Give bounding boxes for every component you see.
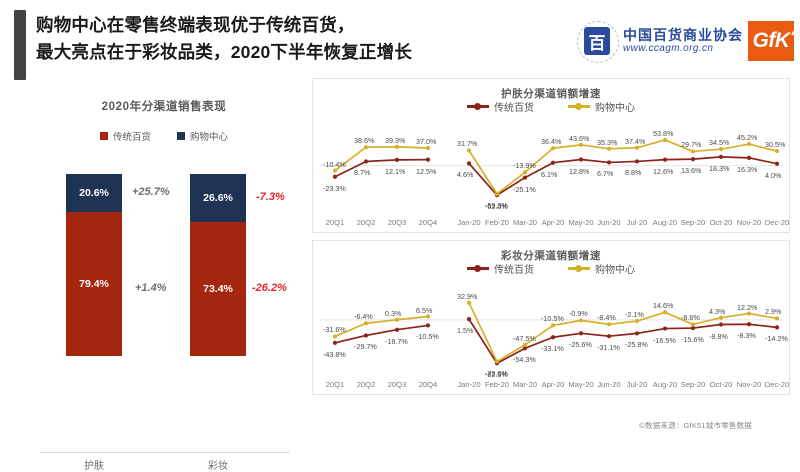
data-label: 6.7% — [597, 169, 613, 178]
annotation-makeup-department: -26.2% — [252, 282, 287, 294]
data-label: 2.9% — [765, 307, 781, 316]
data-label: 18.3% — [709, 164, 729, 173]
data-label: 12.1% — [385, 167, 405, 176]
x-axis-label: 20Q2 — [349, 218, 383, 227]
data-label: -8.3% — [737, 331, 756, 340]
title-line-1: 购物中心在零售终端表现优于传统百货， — [36, 12, 556, 39]
data-label: -25.8% — [625, 340, 648, 349]
data-label: 1.5% — [457, 326, 473, 335]
data-label: 34.5% — [709, 138, 729, 147]
x-axis-label: Dec-20 — [760, 380, 794, 389]
legend-item-mall: 购物中心 — [177, 129, 228, 143]
x-axis-label: 20Q1 — [318, 380, 352, 389]
x-axis-label: 20Q4 — [411, 380, 445, 389]
data-label: -31.1% — [597, 343, 620, 352]
data-label: 39.3% — [385, 136, 405, 145]
data-label: 12.5% — [416, 167, 436, 176]
data-label: -25.6% — [569, 340, 592, 349]
data-label: 36.4% — [541, 137, 561, 146]
data-label: 4.3% — [709, 307, 725, 316]
x-axis-label: 20Q2 — [349, 380, 383, 389]
makeup-line-chart: 彩妆分渠道销额增速 传统百货 购物中心 -43.8%-29.7%-18.7%-1… — [313, 241, 789, 394]
data-label: -47.5% — [513, 334, 536, 343]
stacked-bars-area: 20.6% 79.4% 26.6% 73.4% +25.7% +1.4% -7.… — [26, 174, 302, 364]
legend-swatch-department — [100, 132, 108, 140]
panel-channel-share: 2020年分渠道销售表现 传统百货 购物中心 20.6% 79.4% 26.6%… — [26, 78, 302, 396]
data-label: -59.3% — [485, 201, 508, 210]
brand-logos: 百 中国百货商业协会 www.ccagm.org.cn GfK — [576, 18, 794, 64]
x-axis-label: 20Q4 — [411, 218, 445, 227]
data-label: 0.3% — [385, 309, 401, 318]
data-label: -16.5% — [653, 336, 676, 345]
bar-segment-department-makeup: 73.4% — [190, 222, 246, 356]
data-label: -29.7% — [354, 342, 377, 351]
annotation-skincare-department: +1.4% — [135, 282, 167, 294]
slide-header: 购物中心在零售终端表现优于传统百货， 最大亮点在于彩妆品类，2020下半年恢复正… — [0, 0, 800, 72]
data-label: 35.3% — [597, 138, 617, 147]
bar-segment-mall-skincare: 20.6% — [66, 174, 122, 212]
data-label: -54.3% — [513, 355, 536, 364]
data-label: 13.6% — [681, 166, 701, 175]
data-label: -18.7% — [385, 337, 408, 346]
association-url: www.ccagm.org.cn — [623, 43, 743, 54]
x-axis-label: Dec-20 — [760, 218, 794, 227]
data-label: 4.6% — [457, 170, 473, 179]
data-label: -2.1% — [625, 310, 644, 319]
bar-group-makeup: 26.6% 73.4% — [190, 174, 246, 356]
data-label: 31.7% — [457, 139, 477, 148]
data-label: -79.6% — [485, 369, 508, 378]
left-chart-axis — [40, 452, 290, 453]
bar-segment-department-skincare: 79.4% — [66, 212, 122, 357]
legend-item-department: 传统百货 — [100, 129, 151, 143]
data-label: 38.6% — [354, 136, 374, 145]
x-axis-label: 20Q3 — [380, 380, 414, 389]
association-name: 中国百货商业协会 — [623, 28, 743, 44]
data-label: -43.8% — [323, 350, 346, 359]
data-label: 8.7% — [354, 168, 370, 177]
category-label-makeup: 彩妆 — [190, 457, 246, 472]
data-label: 45.2% — [737, 133, 757, 142]
data-label: -6.4% — [354, 312, 373, 321]
ccagm-logo-text: 中国百货商业协会 www.ccagm.org.cn — [623, 28, 743, 55]
data-label: 37.4% — [625, 137, 645, 146]
data-label: -15.6% — [681, 335, 704, 344]
data-label: -10.5% — [541, 314, 564, 323]
source-note: ©数据来源：GfK51城市零售数据 — [639, 420, 752, 431]
slide-root: 购物中心在零售终端表现优于传统百货， 最大亮点在于彩妆品类，2020下半年恢复正… — [0, 0, 800, 450]
data-label: 43.6% — [569, 134, 589, 143]
data-label: 32.9% — [457, 292, 477, 301]
data-label: -0.9% — [569, 309, 588, 318]
data-label: 14.6% — [653, 301, 673, 310]
data-label: -10.4% — [323, 160, 346, 169]
data-label: -13.9% — [513, 161, 536, 170]
data-label: -14.2% — [765, 334, 788, 343]
data-label: 16.3% — [737, 165, 757, 174]
data-label: -25.1% — [513, 185, 536, 194]
legend-swatch-mall — [177, 132, 185, 140]
data-label: 53.8% — [653, 129, 673, 138]
data-label: 6.5% — [416, 306, 432, 315]
data-label: 29.7% — [681, 140, 701, 149]
panel-skincare-growth: 护肤分渠道销额增速 传统百货 购物中心 -23.3%8.7%12.1%12.5%… — [312, 78, 790, 233]
data-label: -31.6% — [323, 325, 346, 334]
x-axis-label: 20Q1 — [318, 218, 352, 227]
data-label: -8.8% — [709, 332, 728, 341]
legend-label-department: 传统百货 — [113, 129, 151, 143]
data-label: -8.6% — [681, 313, 700, 322]
category-label-skincare: 护肤 — [66, 457, 122, 472]
ccagm-logo-icon: 百 — [576, 20, 618, 62]
annotation-makeup-mall: -7.3% — [256, 191, 285, 203]
legend-label-mall: 购物中心 — [190, 129, 228, 143]
skincare-line-chart: 护肤分渠道销额增速 传统百货 购物中心 -23.3%8.7%12.1%12.5%… — [313, 79, 789, 232]
data-label: 4.0% — [765, 171, 781, 180]
page-title: 购物中心在零售终端表现优于传统百货， 最大亮点在于彩妆品类，2020下半年恢复正… — [36, 12, 556, 65]
panel-makeup-growth: 彩妆分渠道销额增速 传统百货 购物中心 -43.8%-29.7%-18.7%-1… — [312, 240, 790, 395]
data-label: 6.1% — [541, 170, 557, 179]
data-label: -23.3% — [323, 184, 346, 193]
data-label: 12.8% — [569, 167, 589, 176]
left-chart-title: 2020年分渠道销售表现 — [26, 98, 302, 114]
annotation-skincare-mall: +25.7% — [132, 186, 170, 198]
data-label: 37.0% — [416, 137, 436, 146]
data-label: -10.5% — [416, 332, 439, 341]
makeup-plot-area: -43.8%-29.7%-18.7%-10.5%-31.6%-6.4%0.3%6… — [313, 241, 791, 396]
gfk-logo: GfK — [748, 21, 794, 61]
skincare-plot-area: -23.3%8.7%12.1%12.5%-10.4%38.6%39.3%37.0… — [313, 79, 791, 234]
data-label: 12.6% — [653, 167, 673, 176]
logo-glyph: 百 — [584, 27, 610, 55]
title-accent-bar — [14, 10, 26, 80]
data-label: -8.4% — [597, 313, 616, 322]
x-axis-label: 20Q3 — [380, 218, 414, 227]
bar-segment-mall-makeup: 26.6% — [190, 174, 246, 222]
data-label: 8.8% — [625, 168, 641, 177]
data-label: 30.5% — [765, 140, 785, 149]
left-chart-legend: 传统百货 购物中心 — [26, 129, 302, 143]
data-label: -33.1% — [541, 344, 564, 353]
bar-group-skincare: 20.6% 79.4% — [66, 174, 122, 356]
data-label: 12.2% — [737, 303, 757, 312]
title-line-2: 最大亮点在于彩妆品类，2020下半年恢复正增长 — [36, 39, 556, 66]
